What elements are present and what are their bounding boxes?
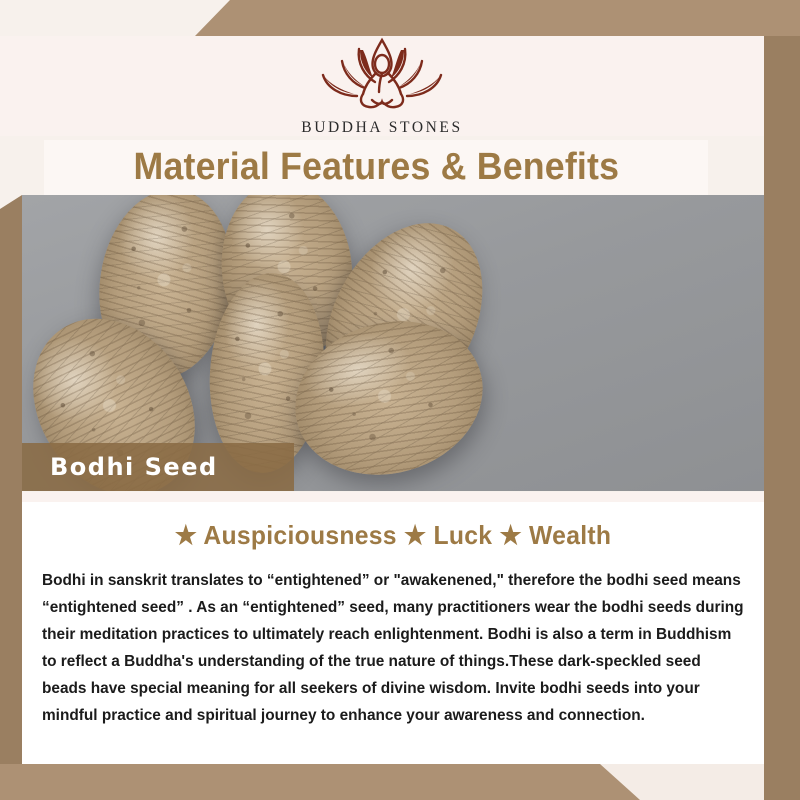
frame-right-band	[764, 0, 800, 800]
title-banner: Material Features & Benefits	[44, 140, 708, 195]
photo-caption-bar: Bodhi Seed	[22, 443, 294, 491]
benefits-headline: ★ Auspiciousness ★ Luck ★ Wealth	[41, 520, 746, 551]
frame-left-band	[0, 195, 22, 800]
lotus-meditation-figure-icon	[297, 34, 467, 117]
description-paragraph: Bodhi in sanskrit translates to “entight…	[42, 567, 744, 729]
brand-header: BUDDHA STONES	[0, 36, 764, 136]
page-title: Material Features & Benefits	[133, 146, 619, 189]
description-card: ★ Auspiciousness ★ Luck ★ Wealth Bodhi i…	[22, 492, 764, 764]
photo-caption-label: Bodhi Seed	[50, 453, 218, 481]
frame-top-band	[0, 0, 800, 36]
card-top-strip	[22, 492, 764, 502]
poster-root: BUDDHA STONES Material Features & Benefi…	[0, 0, 800, 800]
frame-top-right-corner	[764, 0, 800, 36]
brand-wordmark: BUDDHA STONES	[301, 119, 462, 137]
